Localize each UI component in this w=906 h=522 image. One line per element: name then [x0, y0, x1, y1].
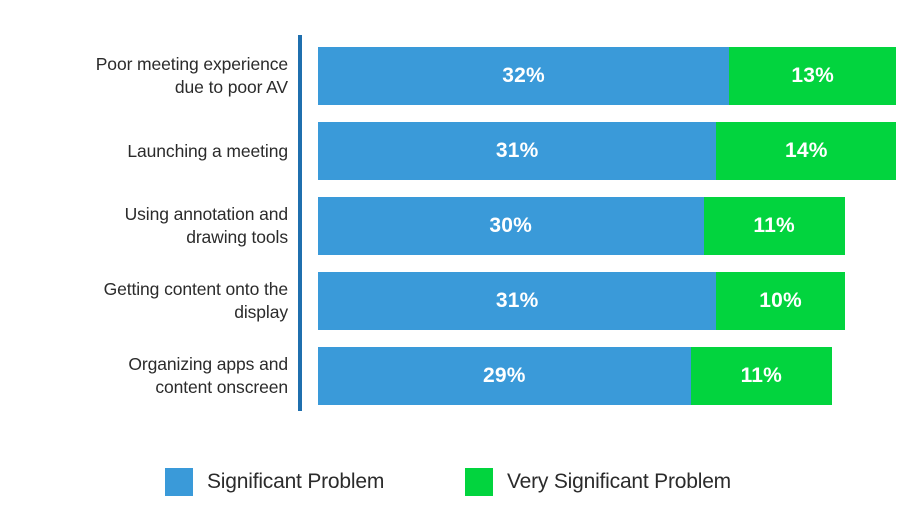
bar-value-label: 10% — [759, 289, 802, 313]
bar-track-2: 30% 11% — [318, 197, 845, 255]
bar-value-label: 29% — [483, 364, 526, 388]
category-label-2: Using annotation and drawing tools — [0, 197, 288, 255]
table-row: Using annotation and drawing tools 30% 1… — [0, 197, 906, 255]
table-row: Getting content onto the display 31% 10% — [0, 272, 906, 330]
bar-segment-significant-0[interactable]: 32% — [318, 47, 729, 105]
stacked-bar-chart: Poor meeting experience due to poor AV 3… — [0, 0, 906, 522]
legend-swatch-icon — [465, 468, 493, 496]
bar-value-label: 30% — [489, 214, 532, 238]
legend-item-significant-problem[interactable]: Significant Problem — [165, 462, 384, 502]
table-row: Poor meeting experience due to poor AV 3… — [0, 47, 906, 105]
bar-segment-significant-1[interactable]: 31% — [318, 122, 716, 180]
legend-item-label: Very Significant Problem — [507, 468, 731, 496]
bar-segment-significant-3[interactable]: 31% — [318, 272, 716, 330]
bar-segment-very-significant-2[interactable]: 11% — [704, 197, 845, 255]
bar-track-4: 29% 11% — [318, 347, 832, 405]
chart-legend: Significant Problem Very Significant Pro… — [0, 462, 906, 508]
bar-track-1: 31% 14% — [318, 122, 896, 180]
plot-area: Poor meeting experience due to poor AV 3… — [0, 0, 906, 420]
bar-segment-very-significant-3[interactable]: 10% — [716, 272, 845, 330]
bar-value-label: 13% — [791, 64, 834, 88]
bar-value-label: 31% — [496, 289, 539, 313]
bar-segment-very-significant-0[interactable]: 13% — [729, 47, 896, 105]
bar-segment-significant-4[interactable]: 29% — [318, 347, 691, 405]
category-label-4: Organizing apps and content onscreen — [0, 347, 288, 405]
bar-value-label: 32% — [502, 64, 545, 88]
bar-value-label: 11% — [753, 214, 794, 238]
legend-item-label: Significant Problem — [207, 468, 384, 496]
bar-value-label: 14% — [785, 139, 828, 163]
category-label-1: Launching a meeting — [0, 122, 288, 180]
bar-value-label: 11% — [741, 364, 782, 388]
category-label-3: Getting content onto the display — [0, 272, 288, 330]
bar-track-0: 32% 13% — [318, 47, 896, 105]
bar-segment-very-significant-1[interactable]: 14% — [716, 122, 896, 180]
table-row: Launching a meeting 31% 14% — [0, 122, 906, 180]
bar-track-3: 31% 10% — [318, 272, 845, 330]
bar-segment-significant-2[interactable]: 30% — [318, 197, 704, 255]
legend-item-very-significant-problem[interactable]: Very Significant Problem — [465, 462, 731, 502]
legend-swatch-icon — [165, 468, 193, 496]
bar-segment-very-significant-4[interactable]: 11% — [691, 347, 832, 405]
category-label-0: Poor meeting experience due to poor AV — [0, 47, 288, 105]
table-row: Organizing apps and content onscreen 29%… — [0, 347, 906, 405]
bar-value-label: 31% — [496, 139, 539, 163]
